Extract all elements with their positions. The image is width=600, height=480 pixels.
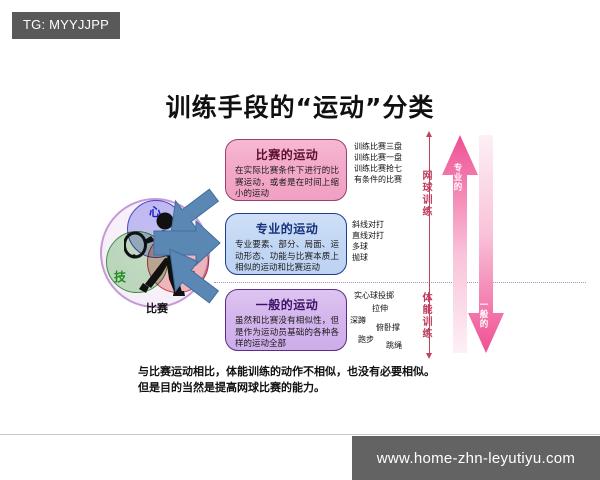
axis-label-physical-training: 体能训练 [418, 292, 433, 340]
category-box-professional[interactable]: 专业的运动 专业要素、部分、局面、运动形态、功能与比赛本质上相似的运动和比赛运动 [225, 213, 347, 275]
axis-label-tennis-training: 网球训练 [418, 170, 433, 218]
example-item: 跑步 [358, 334, 374, 345]
gradient-arrow-down-label: 一般的 [477, 300, 489, 329]
example-item: 训练比赛三盘 [354, 141, 402, 152]
box-body-professional: 专业要素、部分、局面、运动形态、功能与比赛本质上相似的运动和比赛运动 [235, 240, 339, 275]
example-list-general: 实心球投掷 拉伸 深蹲 俯卧撑 跑步 跳绳 [350, 290, 422, 352]
box-heading-professional: 专业的运动 [235, 220, 339, 237]
gradient-arrow-up-label: 专业的 [451, 163, 463, 192]
example-item: 训练比赛一盘 [354, 152, 402, 163]
slide-canvas: TG: MYYJJPP 训练手段的“运动”分类 心 技 体 比赛 [0, 0, 600, 480]
bottom-note-line-2: 但是目的当然是提高网球比赛的能力。 [138, 380, 478, 396]
footer-divider [0, 434, 600, 435]
example-item: 斜线对打 [352, 219, 384, 230]
footer-url: www.home-zhn-leyutiyu.com [352, 436, 600, 480]
example-item: 俯卧撑 [376, 322, 400, 333]
category-box-general[interactable]: 一般的运动 虽然和比赛没有相似性，但是作为运动员基础的各种各样的运动全部 [225, 289, 347, 351]
bottom-note: 与比赛运动相比，体能训练的动作不相似，也没有必要相似。 但是目的当然是提高网球比… [138, 364, 478, 396]
example-item: 跳绳 [386, 340, 402, 351]
example-item: 直线对打 [352, 230, 384, 241]
example-list-competition: 训练比赛三盘 训练比赛一盘 训练比赛抢七 有条件的比赛 [354, 141, 402, 185]
example-item: 多球 [352, 241, 384, 252]
axis-arrow-up-icon [426, 131, 432, 137]
box-body-general: 虽然和比赛没有相似性，但是作为运动员基础的各种各样的运动全部 [235, 316, 339, 351]
watermark-tag: TG: MYYJJPP [12, 12, 120, 39]
example-item: 拉伸 [372, 303, 388, 314]
category-box-competition[interactable]: 比赛的运动 在实际比赛条件下进行的比赛运动，或者是在时间上缩小的运动 [225, 139, 347, 201]
box-heading-general: 一般的运动 [235, 296, 339, 313]
box-body-competition: 在实际比赛条件下进行的比赛运动，或者是在时间上缩小的运动 [235, 166, 339, 201]
page-title: 训练手段的“运动”分类 [0, 88, 600, 124]
box-heading-competition: 比赛的运动 [235, 146, 339, 163]
example-list-professional: 斜线对打 直线对打 多球 抛球 [352, 219, 384, 263]
example-item: 抛球 [352, 252, 384, 263]
example-item: 深蹲 [350, 315, 366, 326]
axis-arrow-down-icon [426, 353, 432, 359]
example-item: 有条件的比赛 [354, 174, 402, 185]
bottom-note-line-1: 与比赛运动相比，体能训练的动作不相似，也没有必要相似。 [138, 364, 478, 380]
example-item: 实心球投掷 [354, 290, 394, 301]
section-divider [214, 282, 586, 283]
example-item: 训练比赛抢七 [354, 163, 402, 174]
